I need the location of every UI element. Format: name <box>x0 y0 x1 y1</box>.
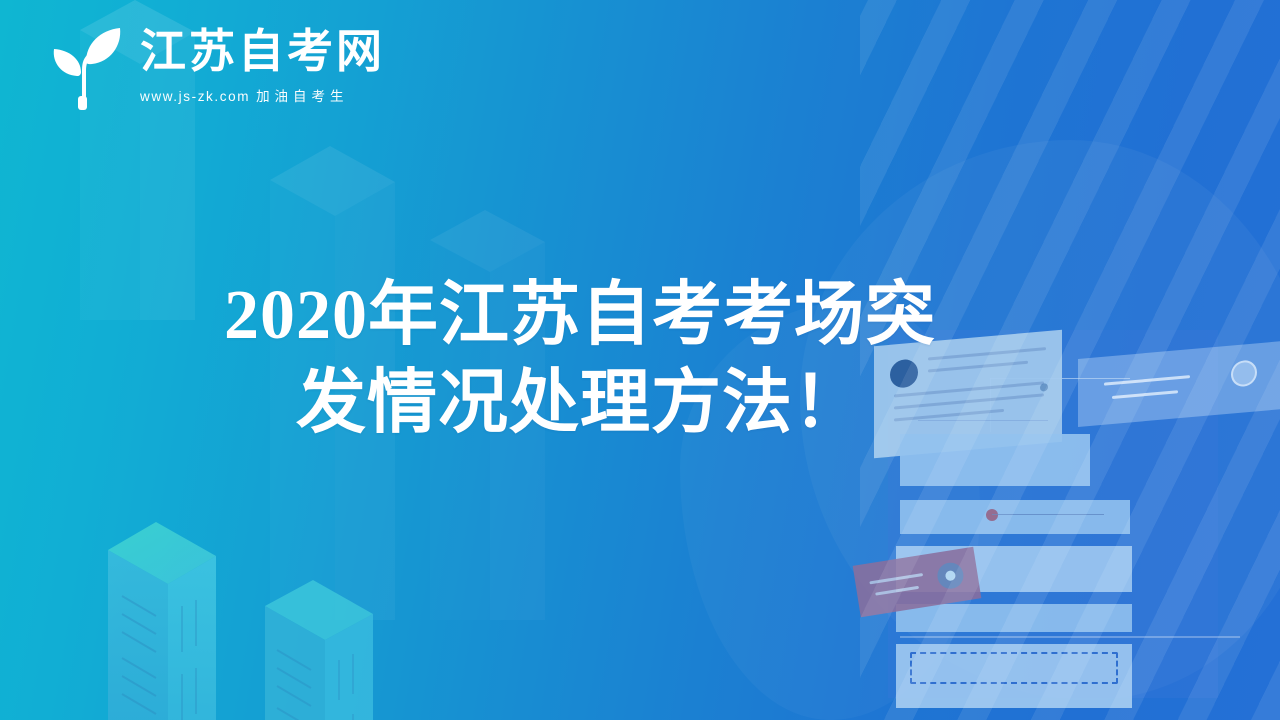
promo-banner: 江苏自考网 www.js-zk.com加油自考生 2020年江苏自考考场突 发情… <box>0 0 1280 720</box>
logo-text-block: 江苏自考网 www.js-zk.com加油自考生 <box>140 27 385 104</box>
logo-subtitle: www.js-zk.com加油自考生 <box>140 85 385 105</box>
page-title-line-1: 2020年江苏自考考场突 <box>0 272 1160 360</box>
site-logo[interactable]: 江苏自考网 www.js-zk.com加油自考生 <box>34 18 385 114</box>
logo-domain: www.js-zk.com <box>140 89 250 104</box>
tower-foreground-left <box>98 488 348 720</box>
tower-foreground-right <box>255 550 485 720</box>
logo-title: 江苏自考网 <box>140 27 385 75</box>
page-title: 2020年江苏自考考场突 发情况处理方法！ <box>0 272 1160 448</box>
page-title-line-2: 发情况处理方法！ <box>0 360 1160 448</box>
logo-slogan: 加油自考生 <box>256 89 349 104</box>
sprout-leaf-icon <box>34 18 126 114</box>
